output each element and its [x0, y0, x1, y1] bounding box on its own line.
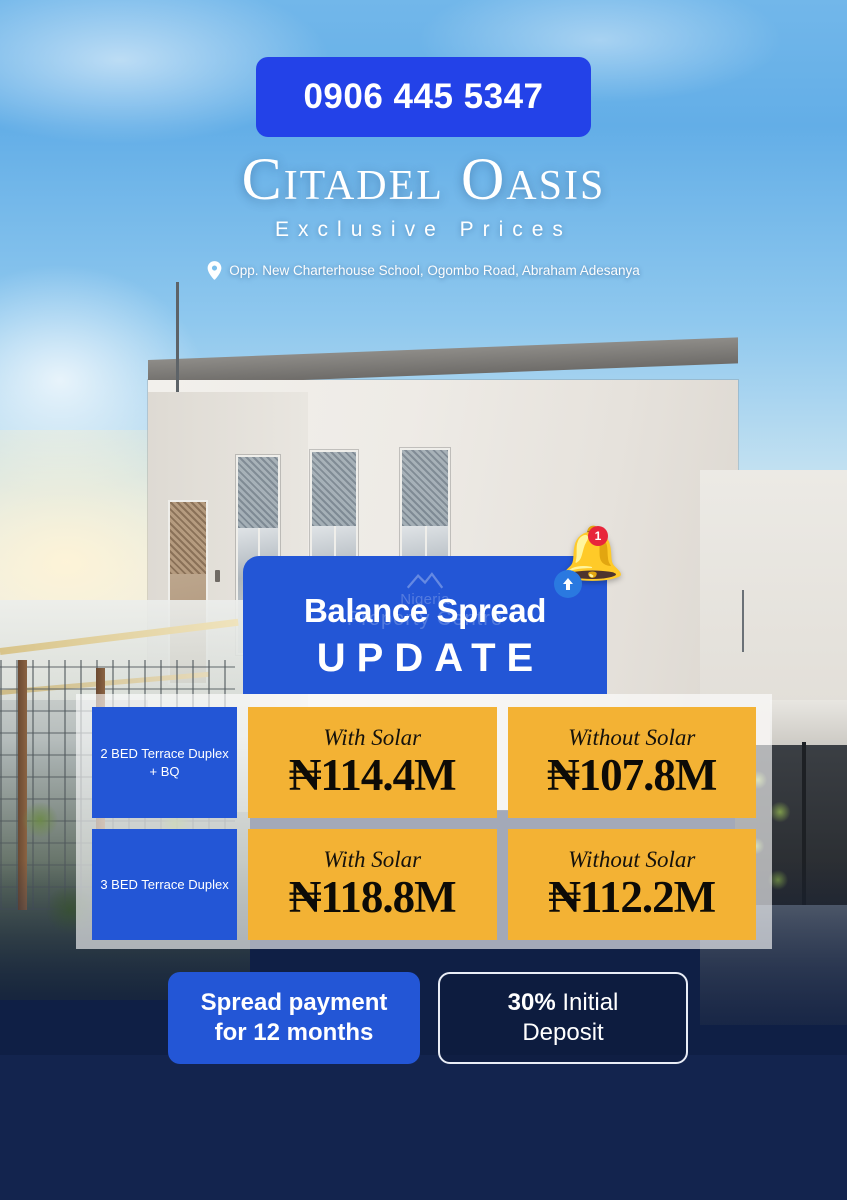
share-arrow-icon[interactable]: [554, 570, 582, 598]
brand-title: Citadel Oasis: [0, 145, 847, 214]
cta-row: Spread payment for 12 months 30% Initial…: [168, 972, 688, 1064]
price-amount: ₦114.4M: [289, 749, 456, 801]
phone-number: 0906 445 5347: [303, 77, 543, 117]
spread-payment-badge[interactable]: Spread payment for 12 months: [168, 972, 420, 1064]
table-row: 2 BED Terrace Duplex + BQ With Solar ₦11…: [92, 707, 756, 818]
price-cell-without-solar: Without Solar ₦112.2M: [508, 829, 757, 940]
address-row: Opp. New Charterhouse School, Ogombo Roa…: [0, 261, 847, 280]
deposit-line-2: Deposit: [522, 1019, 603, 1046]
initial-deposit-badge[interactable]: 30% Initial Deposit: [438, 972, 688, 1064]
price-amount: ₦118.8M: [289, 871, 456, 923]
phone-badge[interactable]: 0906 445 5347: [256, 57, 591, 137]
location-pin-icon: [207, 261, 222, 280]
pricing-table: 2 BED Terrace Duplex + BQ With Solar ₦11…: [76, 694, 772, 949]
solar-label: Without Solar: [568, 725, 695, 751]
deposit-percent: 30%: [508, 989, 556, 1016]
notification-bell[interactable]: 🔔 1: [560, 528, 632, 600]
house-logo-icon: [406, 570, 444, 590]
banner-subhead: UPDATE: [243, 636, 607, 681]
price-amount: ₦107.8M: [547, 749, 716, 801]
bell-badge-count: 1: [588, 526, 608, 546]
address-text: Opp. New Charterhouse School, Ogombo Roa…: [229, 263, 640, 278]
price-cell-with-solar: With Solar ₦114.4M: [248, 707, 497, 818]
unit-type-label: 3 BED Terrace Duplex: [92, 829, 237, 940]
poster-content: 0906 445 5347 Citadel Oasis Exclusive Pr…: [0, 0, 847, 1200]
brand-tagline: Exclusive Prices: [0, 218, 847, 242]
price-amount: ₦112.2M: [548, 871, 715, 923]
update-banner: Nigeria Property Centre Balance Spread U…: [243, 556, 607, 694]
banner-headline: Balance Spread: [243, 592, 607, 630]
price-cell-with-solar: With Solar ₦118.8M: [248, 829, 497, 940]
solar-label: Without Solar: [568, 847, 695, 873]
deposit-label: Initial: [556, 989, 619, 1016]
price-cell-without-solar: Without Solar ₦107.8M: [508, 707, 757, 818]
unit-type-label: 2 BED Terrace Duplex + BQ: [92, 707, 237, 818]
spread-line-1: Spread payment: [201, 989, 388, 1016]
solar-label: With Solar: [323, 847, 421, 873]
spread-line-2: for 12 months: [215, 1019, 374, 1046]
solar-label: With Solar: [323, 725, 421, 751]
table-row: 3 BED Terrace Duplex With Solar ₦118.8M …: [92, 829, 756, 940]
